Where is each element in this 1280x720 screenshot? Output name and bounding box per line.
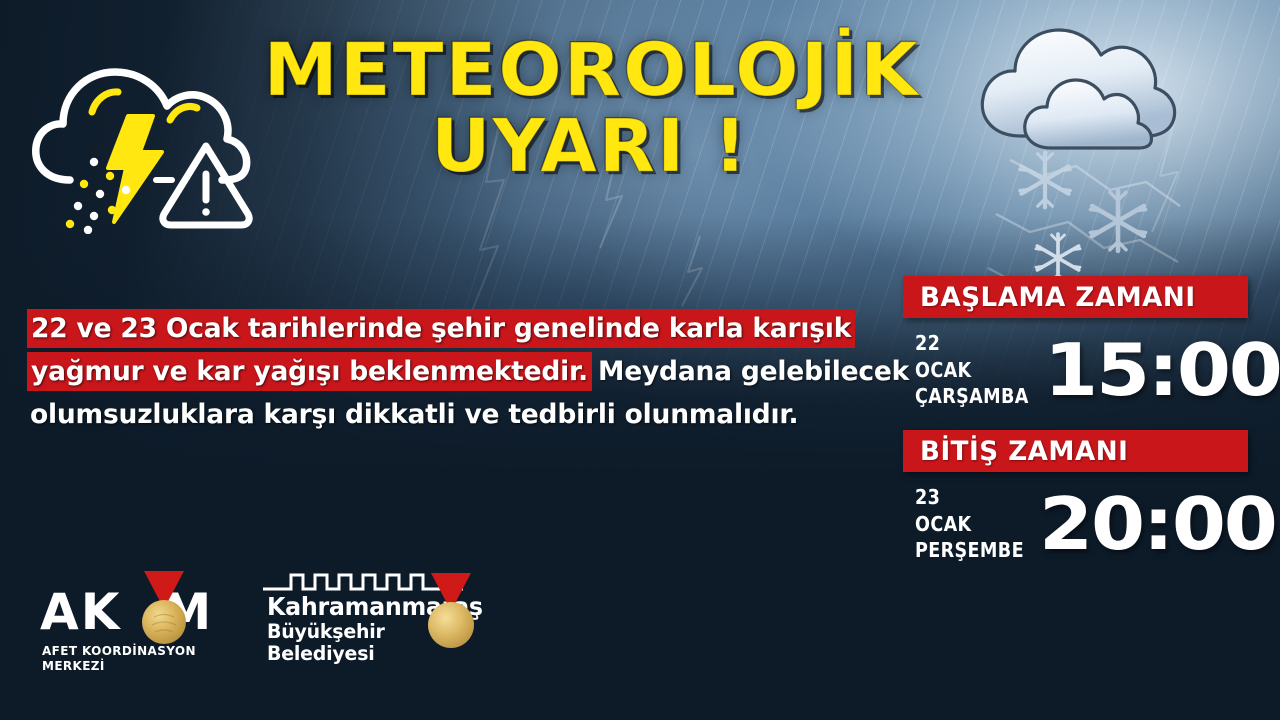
start-weekday: ÇARŞAMBA — [915, 383, 1029, 410]
start-time-header: BAŞLAMA ZAMANI — [903, 276, 1248, 318]
start-time-label: BAŞLAMA ZAMANI — [920, 282, 1196, 313]
thunderstorm-warning-icon — [22, 34, 272, 234]
message-line-3-text: olumsuzluklara karşı dikkatli ve tedbirl… — [30, 399, 798, 430]
end-time-label: BİTİŞ ZAMANI — [920, 436, 1128, 467]
kahramanmaras-logo: Kahramanmaraş Büyükşehir Belediyesi — [263, 565, 478, 665]
end-clock: 20:00 — [1039, 489, 1276, 560]
message-line-1-text: 22 ve 23 Ocak tarihlerinde şehir genelin… — [30, 312, 852, 345]
start-month: OCAK — [915, 357, 1029, 384]
end-time-header: BİTİŞ ZAMANI — [903, 430, 1248, 472]
end-date-stack: 23 OCAK PERŞEMBE — [915, 484, 1039, 564]
akom-word-part1: AK — [40, 583, 121, 641]
end-day: 23 — [915, 484, 1024, 511]
weather-warning-poster: METEOROLOJİK UYARI ! 22 ve 23 Ocak tarih… — [0, 0, 1280, 720]
start-date-stack: 22 OCAK ÇARŞAMBA — [915, 330, 1044, 410]
message-line-2-plain: Meydana gelebilecek — [589, 356, 909, 387]
message-line-2: yağmur ve kar yağışı beklenmektedir. Mey… — [30, 351, 850, 394]
title-line-2: UYARI ! — [270, 112, 910, 182]
logo-row: AKM AFET KOORDİNASYON MERKEZİ — [40, 565, 478, 665]
end-weekday: PERŞEMBE — [915, 537, 1024, 564]
akom-subtitle: AFET KOORDİNASYON MERKEZİ — [42, 643, 227, 673]
end-month: OCAK — [915, 511, 1024, 538]
kahramanmaras-medal-icon — [423, 569, 479, 651]
cloud-icon — [963, 8, 1193, 158]
end-time-row: 23 OCAK PERŞEMBE 20:00 — [903, 472, 1248, 576]
title-line-1: METEOROLOJİK — [264, 36, 917, 106]
warning-message: 22 ve 23 Ocak tarihlerinde şehir genelin… — [30, 308, 850, 437]
snowflake-icon — [1000, 148, 1210, 293]
time-panel: BAŞLAMA ZAMANI 22 OCAK ÇARŞAMBA 15:00 Bİ… — [903, 276, 1248, 576]
message-line-3: olumsuzluklara karşı dikkatli ve tedbirl… — [30, 394, 850, 437]
akom-medal-icon — [136, 569, 192, 647]
akom-logo: AKM AFET KOORDİNASYON MERKEZİ — [40, 565, 235, 665]
poster-title: METEOROLOJİK UYARI ! — [270, 36, 910, 182]
start-clock: 15:00 — [1044, 335, 1280, 406]
message-line-2-highlight: yağmur ve kar yağışı beklenmektedir. — [30, 355, 589, 388]
start-time-row: 22 OCAK ÇARŞAMBA 15:00 — [903, 318, 1248, 422]
message-line-1: 22 ve 23 Ocak tarihlerinde şehir genelin… — [30, 308, 850, 351]
start-day: 22 — [915, 330, 1029, 357]
